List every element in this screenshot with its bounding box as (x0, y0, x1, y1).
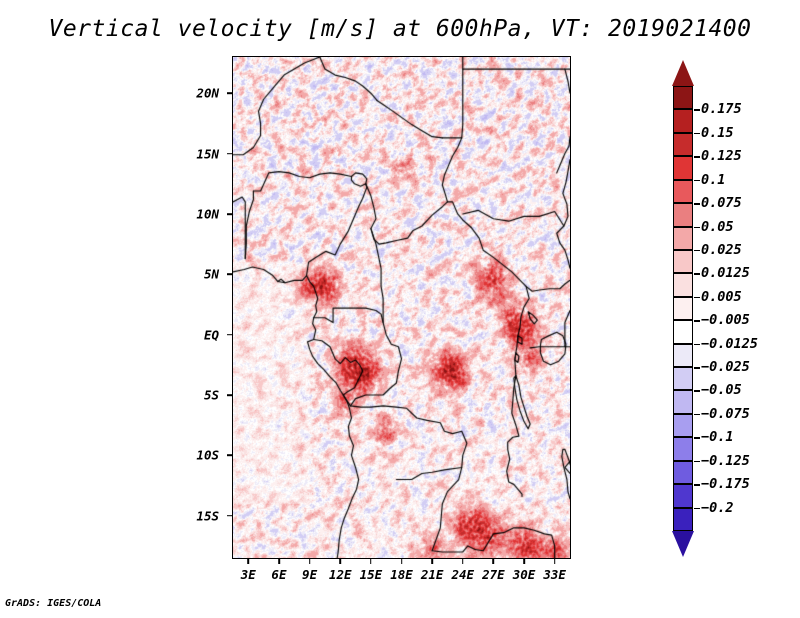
latitude-tick-mark (227, 213, 233, 215)
latitude-tick-label: 10S (196, 448, 219, 463)
colorbar-tick-label: −0.025 (701, 359, 750, 375)
colorbar-tick-mark (694, 344, 700, 346)
longitude-tick-label: 30E (513, 567, 536, 582)
latitude-tick-mark (227, 334, 233, 336)
colorbar-tick-mark (694, 437, 700, 439)
colorbar-tick-mark (694, 133, 700, 135)
longitude-tick-mark (401, 558, 403, 564)
colorbar-tick-mark (694, 156, 700, 158)
colorbar-swatch (673, 86, 693, 109)
longitude-tick-mark (370, 558, 372, 564)
grads-attribution: GrADS: IGES/COLA (5, 598, 101, 609)
latitude-tick-mark (227, 92, 233, 94)
colorbar-tick-mark (694, 367, 700, 369)
colorbar-tick-mark (694, 203, 700, 205)
colorbar-tick-label: 0.0125 (701, 265, 750, 281)
colorbar-swatch (673, 414, 693, 437)
latitude-tick-mark (227, 515, 233, 517)
latitude-tick-mark (227, 153, 233, 155)
colorbar-swatch (673, 180, 693, 203)
colorbar-tick-label: 0.15 (701, 125, 734, 141)
colorbar-tick-mark (694, 227, 700, 229)
map-plot-area: 20N15N10N5NEQ5S10S15S 3E6E9E12E15E18E21E… (233, 57, 570, 558)
colorbar-tick-label: −0.1 (701, 429, 734, 445)
latitude-tick-label: 15S (196, 508, 219, 523)
longitude-tick-label: 24E (451, 567, 474, 582)
colorbar-swatch (673, 484, 693, 507)
colorbar-swatch (673, 250, 693, 273)
colorbar-swatch (673, 344, 693, 367)
longitude-tick-label: 15E (360, 567, 383, 582)
latitude-tick-label: 15N (196, 146, 219, 161)
longitude-tick-label: 3E (241, 567, 256, 582)
colorbar-tick-mark (694, 320, 700, 322)
latitude-tick-mark (227, 455, 233, 457)
latitude-tick-mark (227, 394, 233, 396)
page-title: Vertical velocity [m/s] at 600hPa, VT: 2… (0, 16, 800, 42)
colorbar-tick-mark (694, 508, 700, 510)
colorbar-swatch (673, 437, 693, 460)
colorbar-swatch (673, 508, 693, 531)
colorbar-tick-label: −0.075 (701, 406, 750, 422)
colorbar-tick-mark (694, 484, 700, 486)
colorbar-tick-mark (694, 297, 700, 299)
latitude-tick-label: 5N (204, 267, 219, 282)
colorbar-tick-label: −0.0125 (701, 336, 758, 352)
longitude-tick-label: 18E (390, 567, 413, 582)
colorbar-swatch (673, 390, 693, 413)
colorbar-swatch (673, 109, 693, 132)
longitude-tick-mark (554, 558, 556, 564)
longitude-tick-mark (493, 558, 495, 564)
latitude-tick-label: 20N (196, 86, 219, 101)
colorbar-tick-mark (694, 414, 700, 416)
colorbar-tick-mark (694, 461, 700, 463)
colorbar-tick-label: −0.005 (701, 312, 750, 328)
vertical-velocity-heatmap (233, 57, 570, 558)
colorbar: 0.1750.150.1250.10.0750.050.0250.01250.0… (673, 60, 693, 557)
colorbar-tick-label: 0.005 (701, 289, 742, 305)
longitude-tick-mark (339, 558, 341, 564)
colorbar-swatch (673, 297, 693, 320)
colorbar-tick-mark (694, 390, 700, 392)
colorbar-tick-label: 0.05 (701, 219, 734, 235)
colorbar-swatch (673, 156, 693, 179)
colorbar-tick-label: −0.2 (701, 500, 734, 516)
colorbar-tick-label: −0.05 (701, 382, 742, 398)
colorbar-swatch (673, 461, 693, 484)
latitude-tick-label: 10N (196, 206, 219, 221)
colorbar-swatch (673, 367, 693, 390)
latitude-tick-mark (227, 274, 233, 276)
colorbar-swatch (673, 133, 693, 156)
latitude-tick-label: 5S (204, 388, 219, 403)
longitude-tick-label: 21E (421, 567, 444, 582)
longitude-tick-mark (431, 558, 433, 564)
colorbar-tick-label: 0.025 (701, 242, 742, 258)
latitude-tick-label: EQ (204, 327, 219, 342)
colorbar-over-arrow (672, 60, 694, 86)
colorbar-tick-label: −0.175 (701, 476, 750, 492)
colorbar-tick-label: 0.175 (701, 101, 742, 117)
longitude-tick-label: 12E (329, 567, 352, 582)
colorbar-tick-mark (694, 250, 700, 252)
colorbar-swatch (673, 320, 693, 343)
colorbar-tick-mark (694, 273, 700, 275)
colorbar-tick-label: 0.125 (701, 148, 742, 164)
colorbar-tick-mark (694, 109, 700, 111)
longitude-tick-label: 6E (271, 567, 286, 582)
longitude-tick-label: 33E (543, 567, 566, 582)
longitude-tick-mark (309, 558, 311, 564)
colorbar-swatch (673, 273, 693, 296)
longitude-tick-mark (248, 558, 250, 564)
colorbar-tick-label: 0.075 (701, 195, 742, 211)
longitude-tick-mark (523, 558, 525, 564)
longitude-tick-label: 9E (302, 567, 317, 582)
colorbar-tick-label: 0.1 (701, 172, 725, 188)
colorbar-tick-mark (694, 180, 700, 182)
longitude-tick-label: 27E (482, 567, 505, 582)
colorbar-tick-label: −0.125 (701, 453, 750, 469)
longitude-tick-mark (278, 558, 280, 564)
longitude-tick-mark (462, 558, 464, 564)
colorbar-under-arrow (672, 531, 694, 557)
colorbar-swatch (673, 203, 693, 226)
colorbar-swatch (673, 227, 693, 250)
